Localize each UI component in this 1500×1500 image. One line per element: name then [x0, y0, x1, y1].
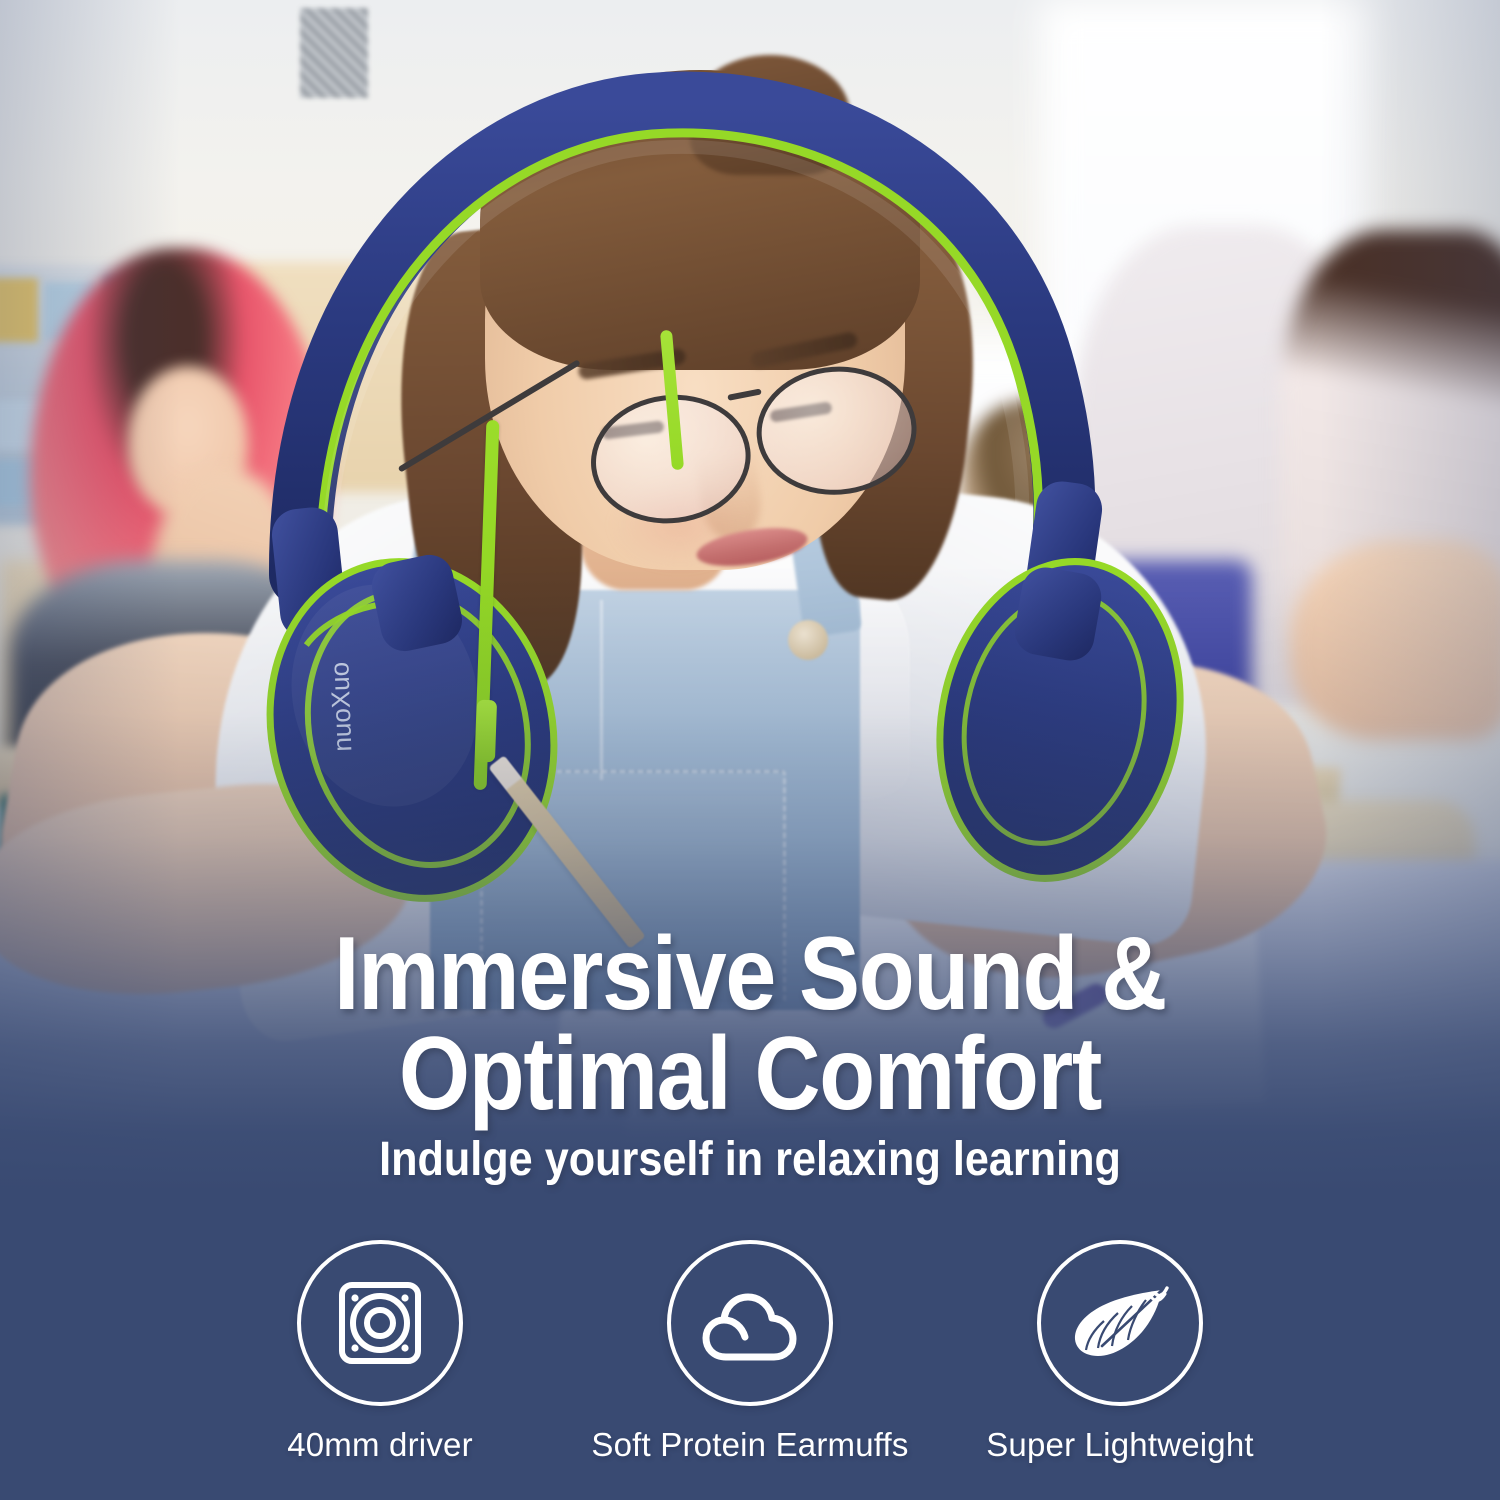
shelf-book — [0, 278, 38, 342]
product-lifestyle-poster: nuoXuo Immersive Sound & Optimal Comfort… — [0, 0, 1500, 1500]
page-subtitle: Indulge yourself in relaxing learning — [75, 1132, 1425, 1187]
feather-icon — [1068, 1280, 1172, 1366]
feature-item-lightweight: Super Lightweight — [940, 1240, 1300, 1464]
cloud-icon — [700, 1277, 800, 1369]
svg-text:nuoXuo: nuoXuo — [324, 661, 357, 752]
feature-list: 40mm driver Soft Protein Earmuffs — [200, 1240, 1300, 1464]
feature-item-earmuffs: Soft Protein Earmuffs — [570, 1240, 930, 1464]
feature-label: Super Lightweight — [986, 1426, 1254, 1464]
headband — [300, 103, 1064, 575]
background-student-right-arm — [1290, 540, 1500, 740]
speaker-driver-icon — [332, 1275, 428, 1371]
feature-item-driver: 40mm driver — [200, 1240, 560, 1464]
feature-icon-circle — [1037, 1240, 1203, 1406]
page-title: Immersive Sound & Optimal Comfort — [90, 925, 1410, 1125]
feature-icon-circle — [297, 1240, 463, 1406]
feature-icon-circle — [667, 1240, 833, 1406]
feature-label: Soft Protein Earmuffs — [591, 1426, 908, 1464]
cable-inline-mic — [475, 700, 497, 763]
feature-label: 40mm driver — [287, 1426, 473, 1464]
